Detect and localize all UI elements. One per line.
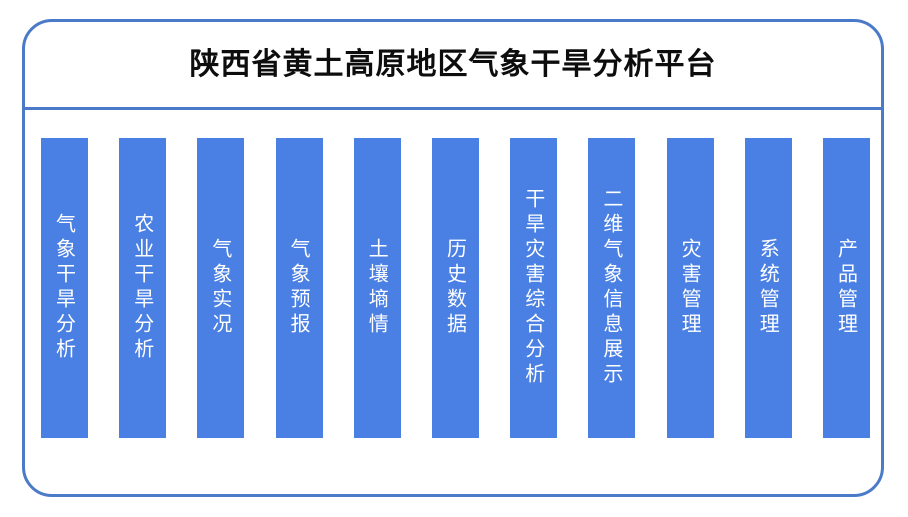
menu-item-agricultural-drought-analysis[interactable]: 农业干旱分析 <box>119 138 166 438</box>
menu-item-weather-observation[interactable]: 气象实况 <box>197 138 244 438</box>
title-band: 陕西省黄土高原地区气象干旱分析平台 <box>25 22 881 107</box>
title-divider <box>22 107 884 110</box>
page-title: 陕西省黄土高原地区气象干旱分析平台 <box>190 50 717 80</box>
menu-item-label: 气象预报 <box>289 238 309 338</box>
menu-item-label: 气象干旱分析 <box>55 213 75 363</box>
menu-item-product-management[interactable]: 产品管理 <box>823 138 870 438</box>
menu-strip: 气象干旱分析 农业干旱分析 气象实况 气象预报 土壤墒情 历史数据 干旱灾害综合… <box>41 138 869 438</box>
menu-item-disaster-management[interactable]: 灾害管理 <box>667 138 714 438</box>
menu-item-label: 系统管理 <box>758 238 778 338</box>
menu-item-label: 历史数据 <box>446 238 466 338</box>
menu-item-label: 农业干旱分析 <box>133 213 153 363</box>
menu-item-2d-weather-information-display[interactable]: 二维气象信息展示 <box>588 138 635 438</box>
menu-item-soil-moisture[interactable]: 土壤墒情 <box>354 138 401 438</box>
menu-item-label: 产品管理 <box>837 238 857 338</box>
menu-item-label: 灾害管理 <box>680 238 700 338</box>
menu-item-drought-disaster-comprehensive-analysis[interactable]: 干旱灾害综合分析 <box>510 138 557 438</box>
main-panel: 陕西省黄土高原地区气象干旱分析平台 气象干旱分析 农业干旱分析 气象实况 气象预… <box>22 19 884 497</box>
application-root: 陕西省黄土高原地区气象干旱分析平台 气象干旱分析 农业干旱分析 气象实况 气象预… <box>0 0 908 517</box>
menu-item-label: 二维气象信息展示 <box>602 188 622 388</box>
menu-item-system-management[interactable]: 系统管理 <box>745 138 792 438</box>
menu-item-label: 干旱灾害综合分析 <box>524 188 544 388</box>
menu-item-weather-forecast[interactable]: 气象预报 <box>276 138 323 438</box>
menu-item-label: 土壤墒情 <box>367 238 387 338</box>
menu-item-meteorological-drought-analysis[interactable]: 气象干旱分析 <box>41 138 88 438</box>
menu-item-label: 气象实况 <box>211 238 231 338</box>
menu-item-historical-data[interactable]: 历史数据 <box>432 138 479 438</box>
